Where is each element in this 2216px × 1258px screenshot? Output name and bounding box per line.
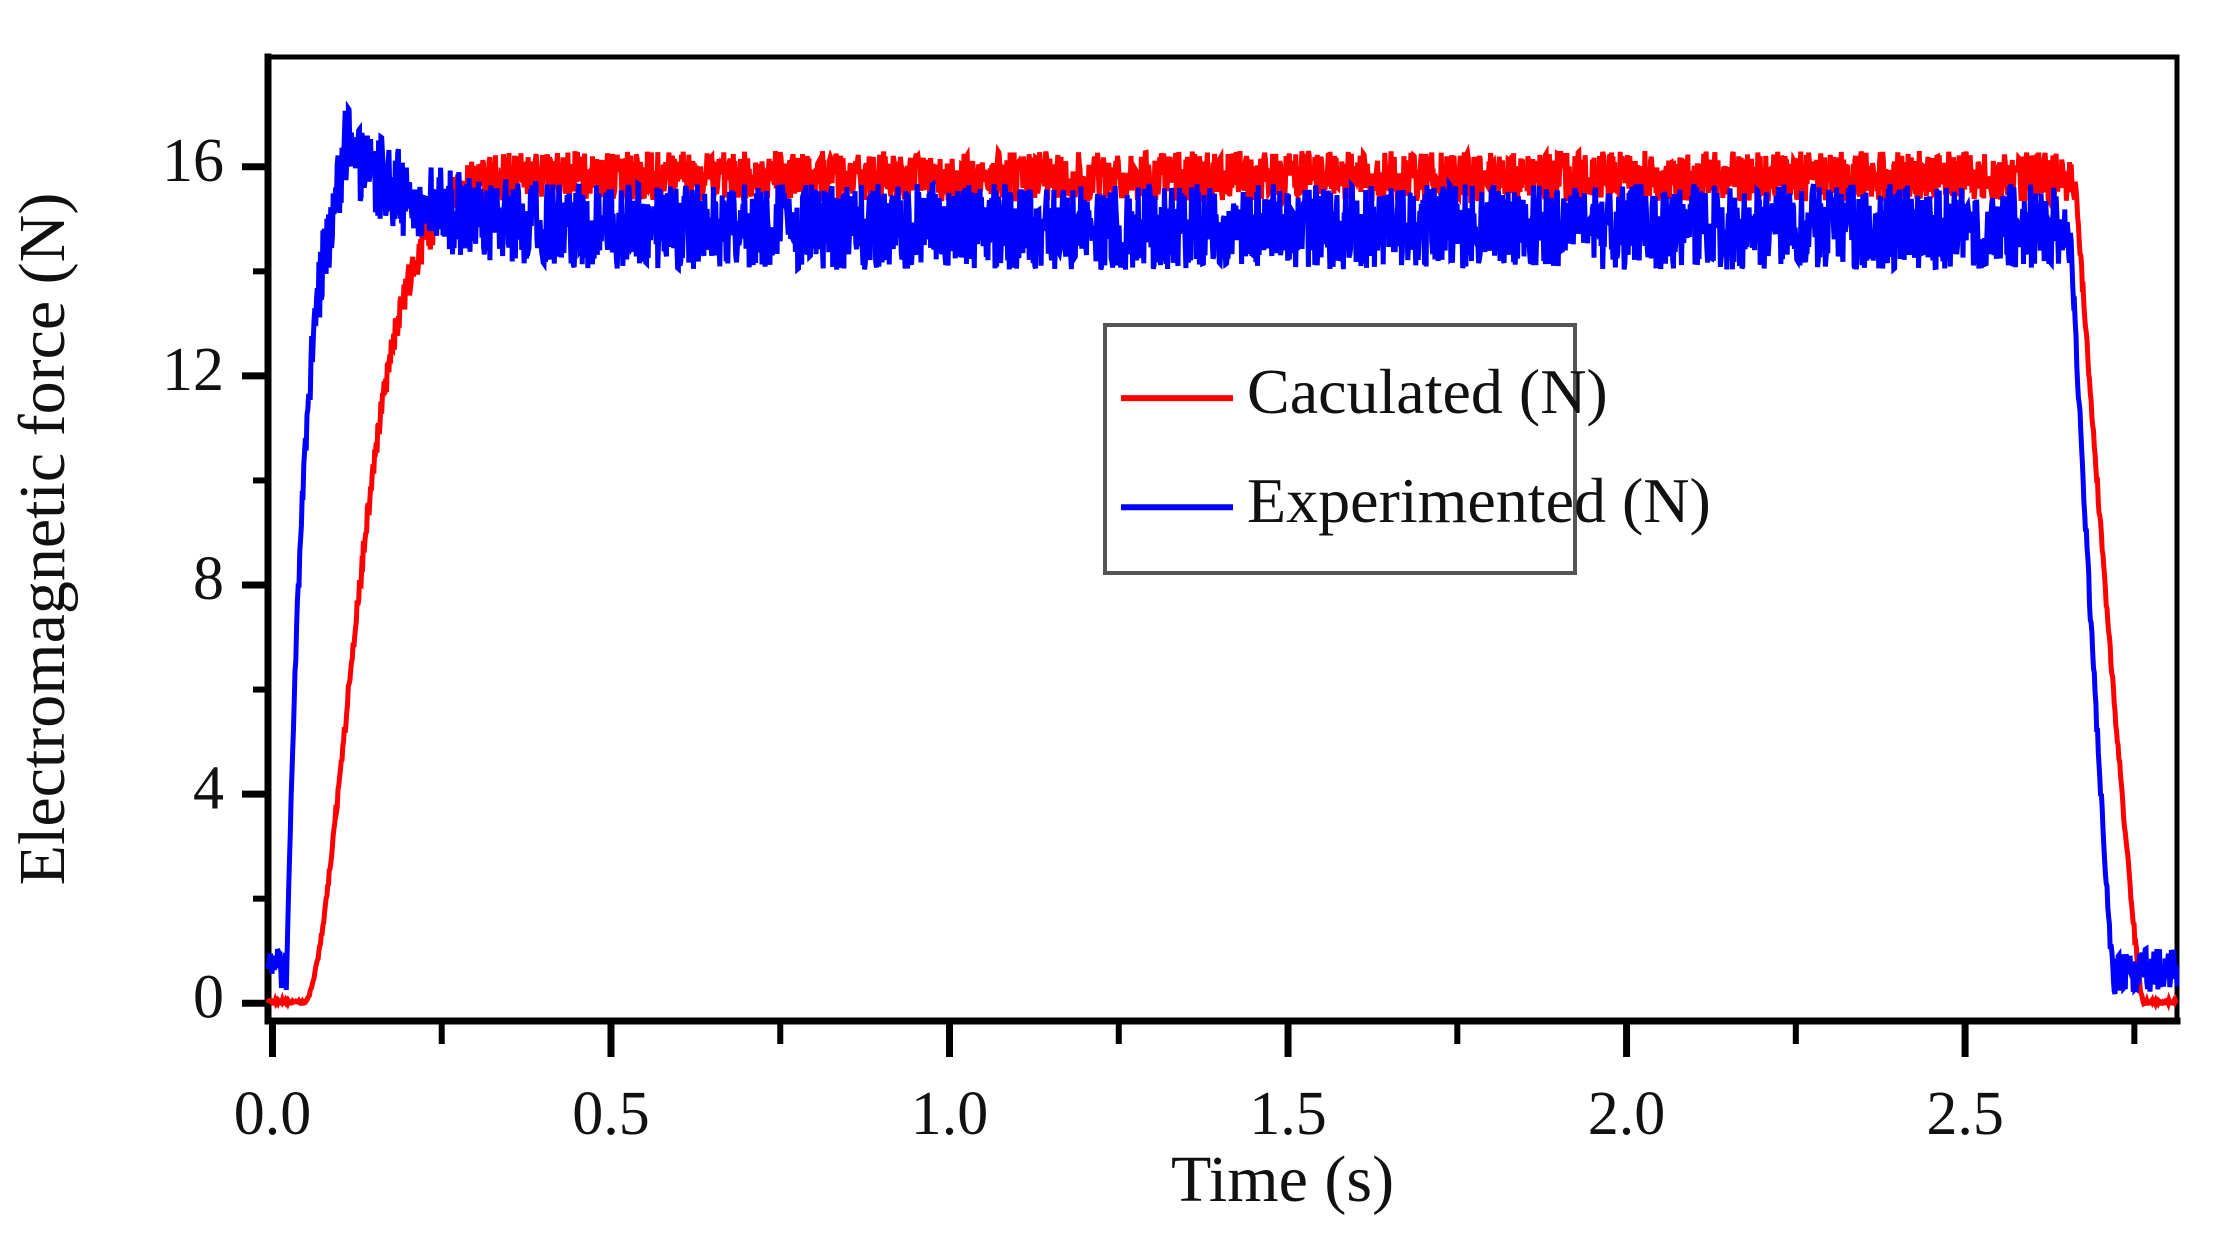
x-axis-title: Time (s) [1171,1143,1394,1216]
series-line-calculated [268,151,2177,1003]
axis-tick-labels: 04812160.00.51.01.52.02.5 [162,127,2004,1148]
y-axis-title: Electromagnetic force (N) [6,193,79,886]
x-tick-label: 2.5 [1926,1080,2004,1148]
x-tick-label: 1.5 [1249,1080,1327,1148]
x-tick-label: 0.5 [572,1080,650,1148]
axis-ticks [242,167,2134,1057]
y-tick-label: 16 [162,127,224,195]
electromagnetic-force-plot: 04812160.00.51.01.52.02.5 Time (s)Electr… [0,0,2216,1258]
x-tick-label: 2.0 [1588,1080,1666,1148]
x-tick-label: 1.0 [911,1080,989,1148]
x-tick-label: 0.0 [234,1080,312,1148]
y-tick-label: 0 [193,963,224,1031]
chart-figure: 04812160.00.51.01.52.02.5 Time (s)Electr… [0,0,2216,1258]
legend-label-experimented: Experimented (N) [1247,465,1711,536]
chart-legend: Caculated (N)Experimented (N) [1105,325,1711,573]
y-tick-label: 4 [193,754,224,822]
y-tick-label: 12 [162,336,224,404]
legend-label-calculated: Caculated (N) [1247,356,1608,427]
y-tick-label: 8 [193,545,224,613]
